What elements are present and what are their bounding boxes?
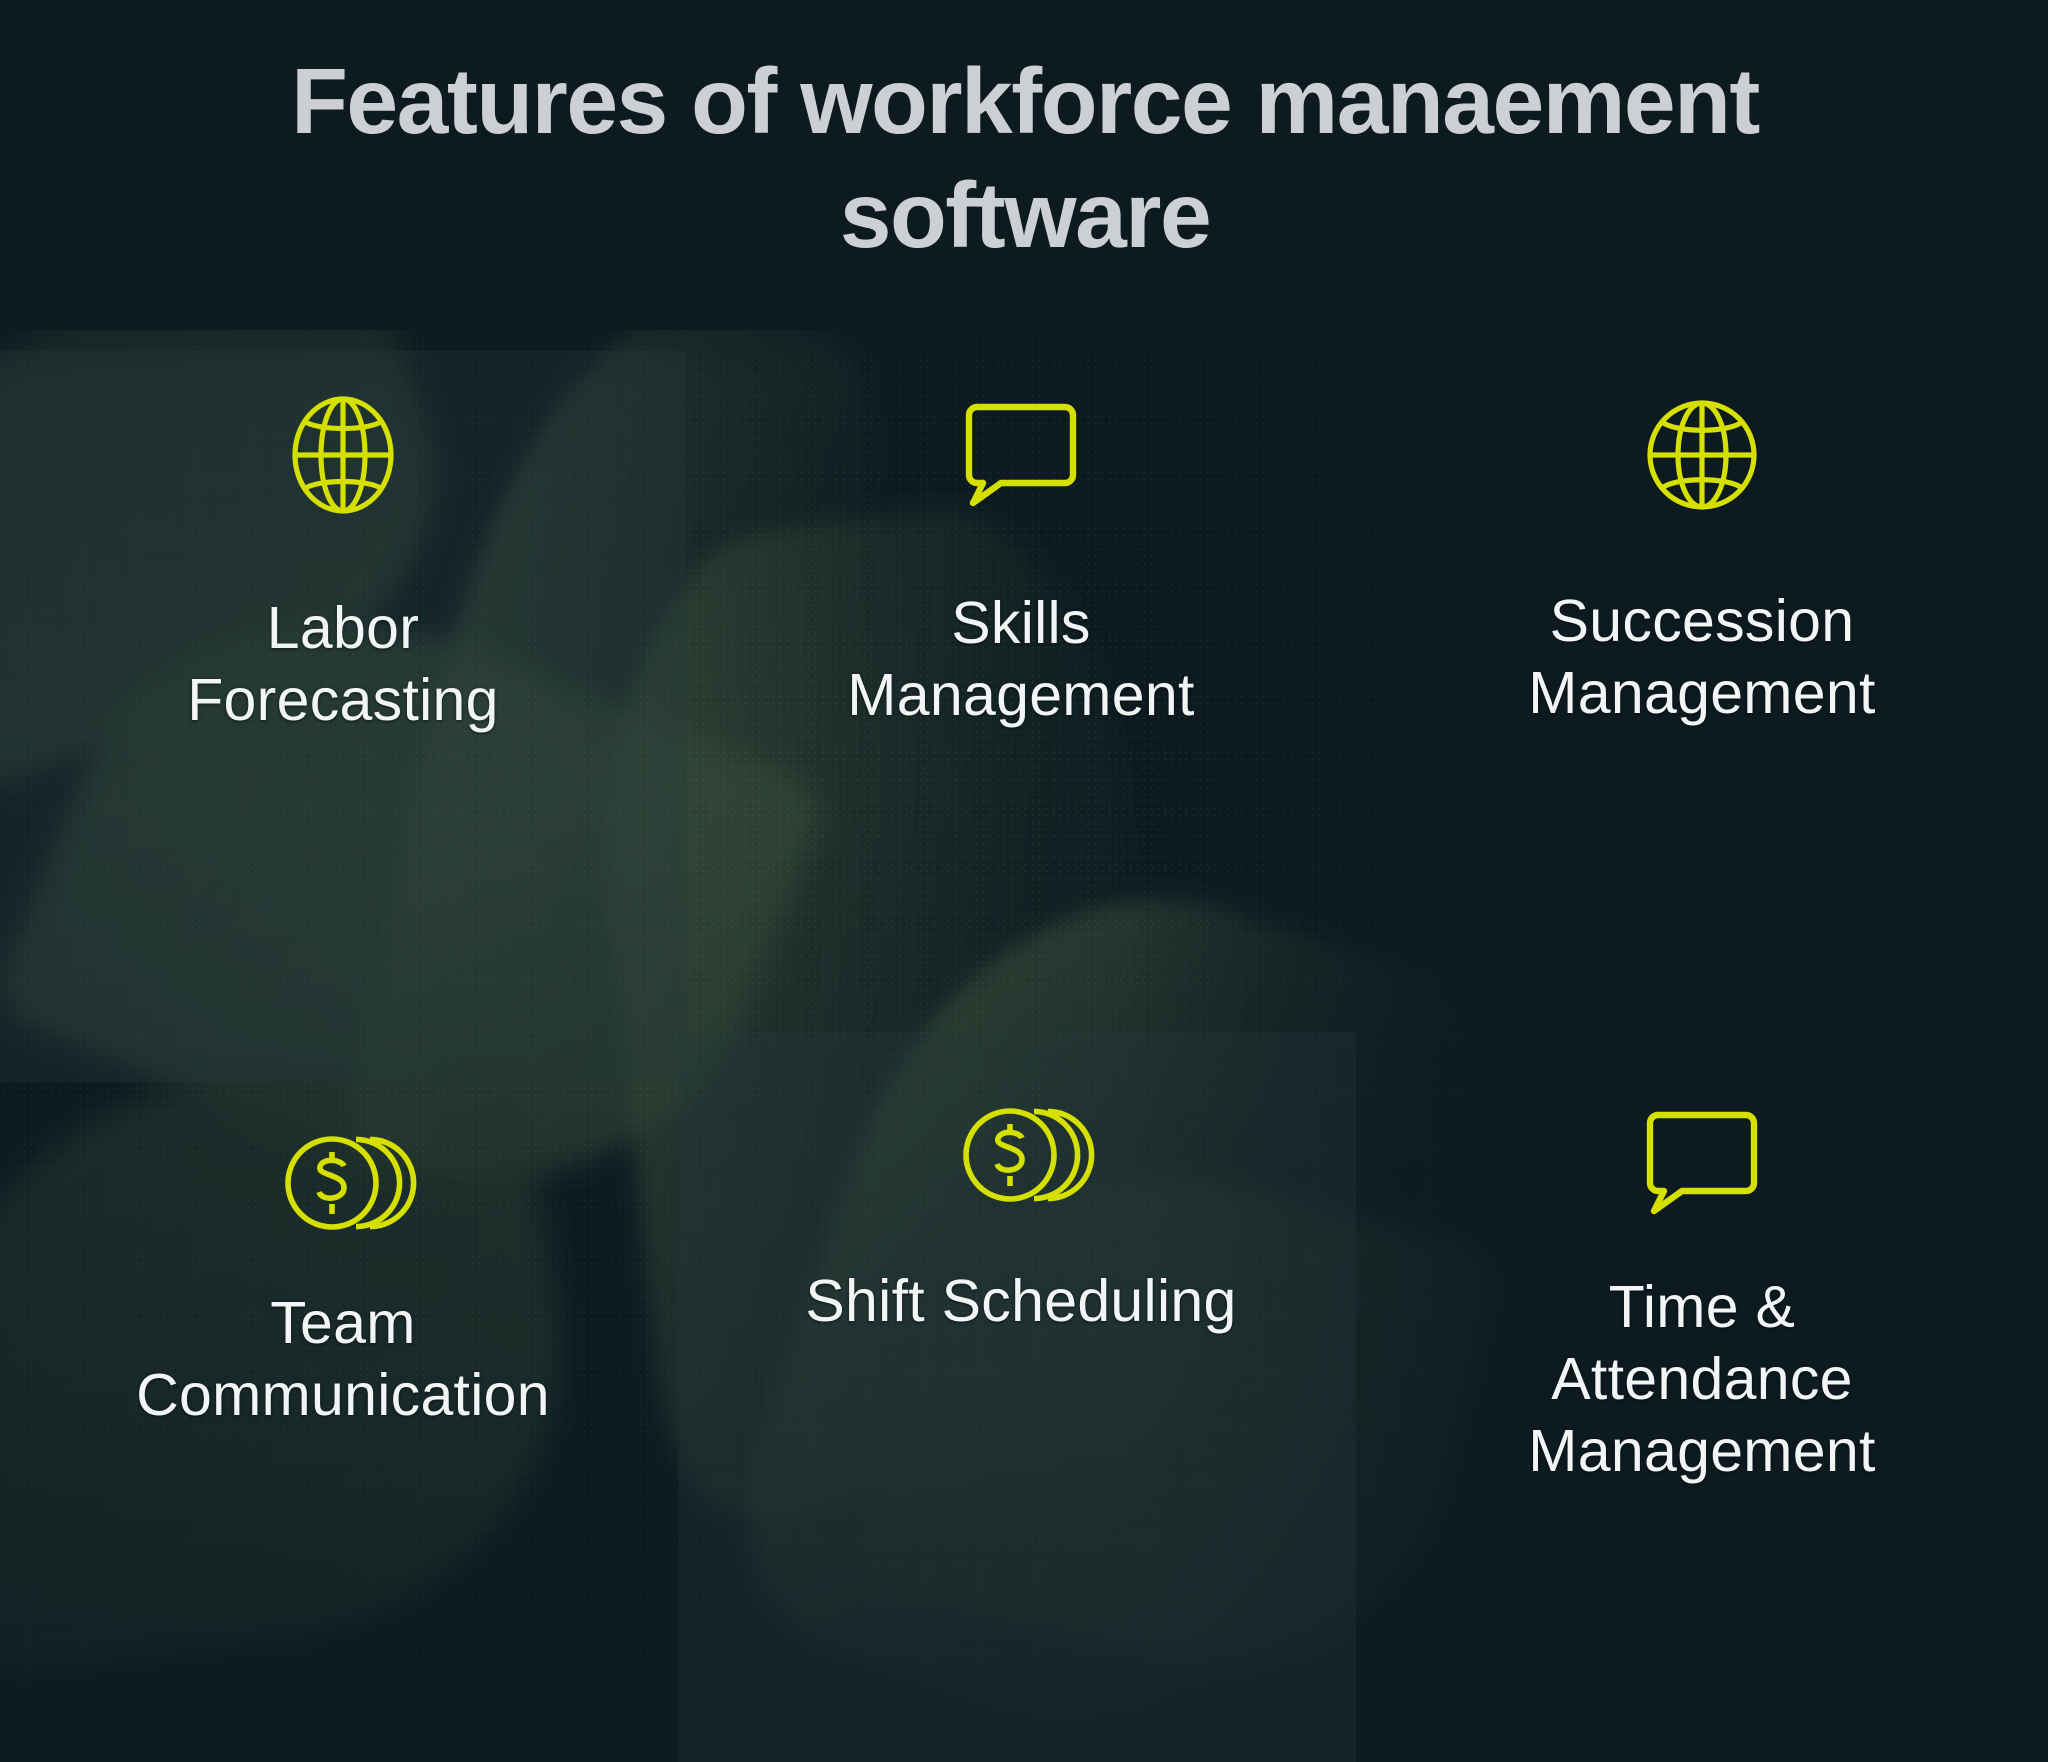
- feature-label: Time & Attendance Management: [1528, 1272, 1875, 1488]
- feature-label: Labor Forecasting: [187, 593, 499, 737]
- feature-card-shift-scheduling[interactable]: Shift Scheduling: [686, 1090, 1356, 1338]
- speech-bubble-icon: [1646, 1098, 1758, 1228]
- header-bar: Features of workforce manaement software: [0, 0, 2048, 330]
- feature-label: Team Communication: [136, 1288, 550, 1432]
- feature-card-team-communication[interactable]: Team Communication: [0, 1118, 686, 1432]
- speech-bubble-icon: [965, 390, 1077, 520]
- coins-icon: [284, 1118, 402, 1248]
- feature-label: Shift Scheduling: [805, 1266, 1236, 1338]
- feature-card-succession-management[interactable]: Succession Management: [1356, 390, 2048, 730]
- feature-label: Skills Management: [847, 588, 1194, 732]
- page-title: Features of workforce manaement software: [120, 44, 1930, 273]
- feature-label: Succession Management: [1528, 586, 1875, 730]
- coins-icon: [962, 1090, 1080, 1220]
- feature-card-skills-management[interactable]: Skills Management: [686, 390, 1356, 732]
- globe-icon: [291, 390, 395, 520]
- globe-icon: [1646, 390, 1758, 520]
- feature-card-time-attendance-management[interactable]: Time & Attendance Management: [1356, 1098, 2048, 1488]
- feature-card-labor-forecasting[interactable]: Labor Forecasting: [0, 390, 686, 737]
